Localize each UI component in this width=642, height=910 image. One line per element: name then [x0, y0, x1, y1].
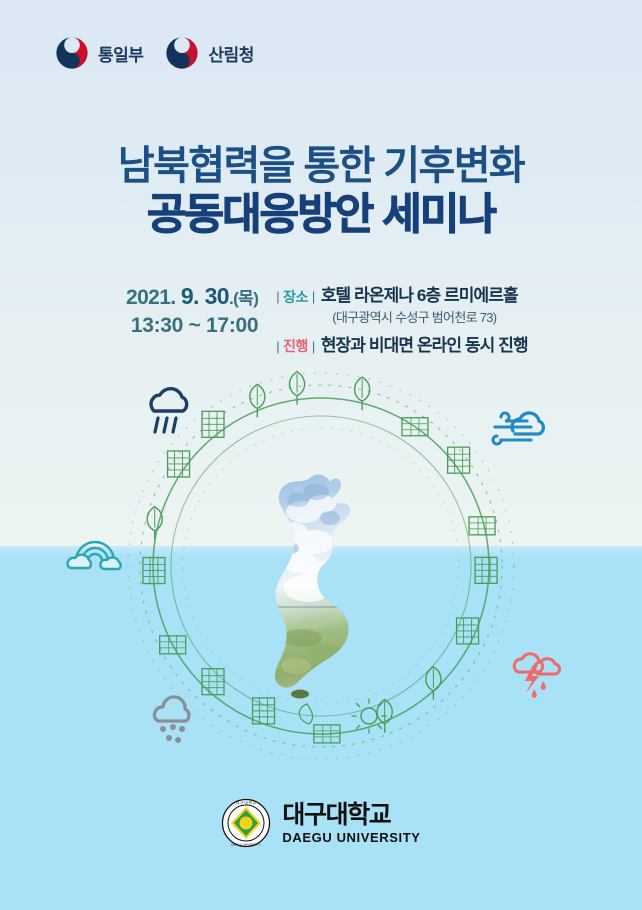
organizer-logo-unification: 통일부 [55, 36, 143, 70]
wind-cloud-icon [487, 405, 549, 451]
university-name-kr: 대구대학교 [282, 803, 420, 828]
mode-tag: 진행 [276, 336, 315, 356]
sun-icon [352, 699, 386, 733]
university-name-en: DAEGU UNIVERSITY [282, 831, 420, 844]
venue-value: 호텔 라온제나 6층 르미에르홀 [321, 281, 518, 306]
organizer-label: 통일부 [98, 41, 143, 66]
date-monthday: 9. 30 [181, 283, 229, 309]
thunderstorm-icon [505, 645, 561, 701]
event-time: 13:30 ~ 17:00 [114, 312, 258, 340]
date-year: 2021. [126, 286, 181, 309]
snow-cloud-icon [145, 694, 203, 750]
svg-text:DAEGU UNIVERSITY: DAEGU UNIVERSITY [232, 843, 262, 847]
rainbow-cloud-icon [62, 533, 128, 573]
daegu-university-emblem: 대 구 대 학 교 DAEGU UNIVERSITY [221, 798, 271, 848]
date-weekday: .(목) [229, 289, 258, 308]
poster-canvas: 통일부 산림청 남북협력을 통한 기후변화 공동대응방안 세미나 2021. 9… [0, 0, 642, 910]
poster-title: 남북협력을 통한 기후변화 공동대응방안 세미나 [0, 144, 642, 239]
event-date: 2021. 9. 30.(목) [114, 282, 258, 312]
jeju-island [291, 690, 309, 699]
venue-row: 장소 호텔 라온제나 6층 르미에르홀 [276, 281, 527, 307]
university-name-block: 대구대학교 DAEGU UNIVERSITY [282, 803, 420, 844]
svg-text:대 구 대 학 교: 대 구 대 학 교 [236, 800, 257, 805]
organizer-logo-row: 통일부 산림청 [55, 36, 254, 70]
event-datetime: 2021. 9. 30.(목) 13:30 ~ 17:00 [114, 281, 272, 340]
title-line-2: 공동대응방안 세미나 [0, 191, 642, 239]
korean-peninsula-map [252, 470, 392, 700]
taegeuk-icon [55, 36, 89, 70]
title-line-1: 남북협력을 통한 기후변화 [0, 144, 642, 189]
venue-tag: 장소 [276, 287, 315, 307]
event-info: 2021. 9. 30.(목) 13:30 ~ 17:00 장소 호텔 라온제나… [0, 281, 642, 356]
rain-cloud-icon [136, 378, 198, 440]
organizer-logo-forest: 산림청 [165, 36, 253, 70]
venue-address: (대구광역시 수성구 범어천로 73) [332, 307, 527, 326]
university-logo: 대 구 대 학 교 DAEGU UNIVERSITY 대구대학교 DAEGU U… [0, 798, 642, 848]
organizer-label: 산림청 [208, 41, 253, 66]
taegeuk-icon [165, 36, 199, 70]
leaf-icon [299, 704, 312, 724]
mode-value: 현장과 비대면 온라인 동시 진행 [321, 331, 528, 356]
event-location-mode: 장소 호텔 라온제나 6층 르미에르홀 (대구광역시 수성구 범어천로 73) … [272, 281, 527, 356]
mode-row: 진행 현장과 비대면 온라인 동시 진행 [276, 331, 527, 357]
